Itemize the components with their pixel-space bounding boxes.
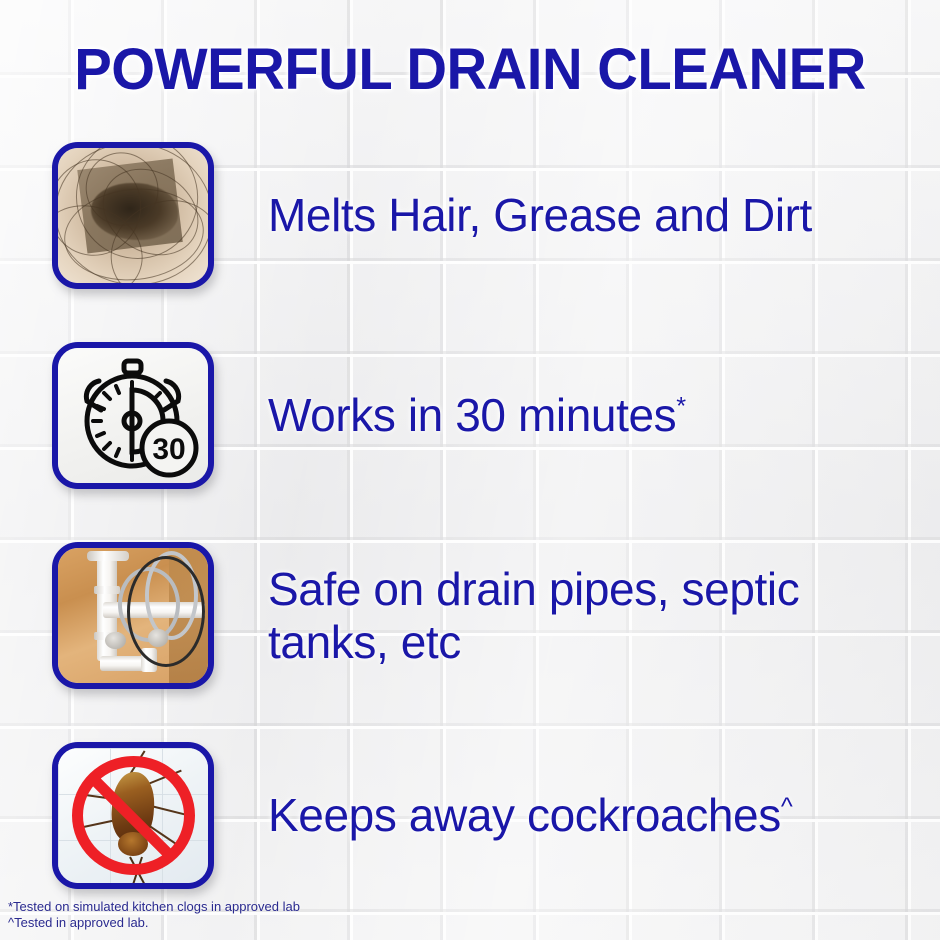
under-sink-pipes-photo xyxy=(52,542,214,689)
benefit-row: Melts Hair, Grease and Dirt xyxy=(0,133,940,298)
footnote-asterisk: *Tested on simulated kitchen clogs in ap… xyxy=(8,899,300,916)
benefits-list: Melts Hair, Grease and Dirt xyxy=(0,133,940,933)
benefit-text: Works in 30 minutes* xyxy=(268,389,686,441)
benefit-row: Keeps away cockroaches^ xyxy=(0,733,940,898)
stopwatch-badge-value: 30 xyxy=(152,433,185,466)
page-title: POWERFUL DRAIN CLEANER xyxy=(14,36,926,103)
benefit-label: Keeps away cockroaches xyxy=(268,789,781,841)
stopwatch-icon: 30 xyxy=(58,348,208,483)
benefit-text: Melts Hair, Grease and Dirt xyxy=(268,189,812,241)
footnote-caret: ^Tested in approved lab. xyxy=(8,915,300,932)
benefit-row: 30 Works in 30 minutes* xyxy=(0,333,940,498)
benefit-label: Works in 30 minutes xyxy=(268,389,676,441)
stopwatch-30-icon: 30 xyxy=(52,342,214,489)
benefit-marker: ^ xyxy=(781,793,792,821)
benefit-text: Safe on drain pipes, septic tanks, etc xyxy=(268,563,923,668)
footnotes: *Tested on simulated kitchen clogs in ap… xyxy=(8,899,300,932)
clogged-drain-hair-photo xyxy=(52,142,214,289)
benefit-row: Safe on drain pipes, septic tanks, etc xyxy=(0,533,940,698)
benefit-marker: * xyxy=(676,393,685,421)
no-cockroach-photo xyxy=(52,742,214,889)
benefit-label: Melts Hair, Grease and Dirt xyxy=(268,189,812,241)
benefit-text: Keeps away cockroaches^ xyxy=(268,789,792,841)
product-infographic: POWERFUL DRAIN CLEANER xyxy=(0,0,940,940)
benefit-label: Safe on drain pipes, septic tanks, etc xyxy=(268,563,799,667)
